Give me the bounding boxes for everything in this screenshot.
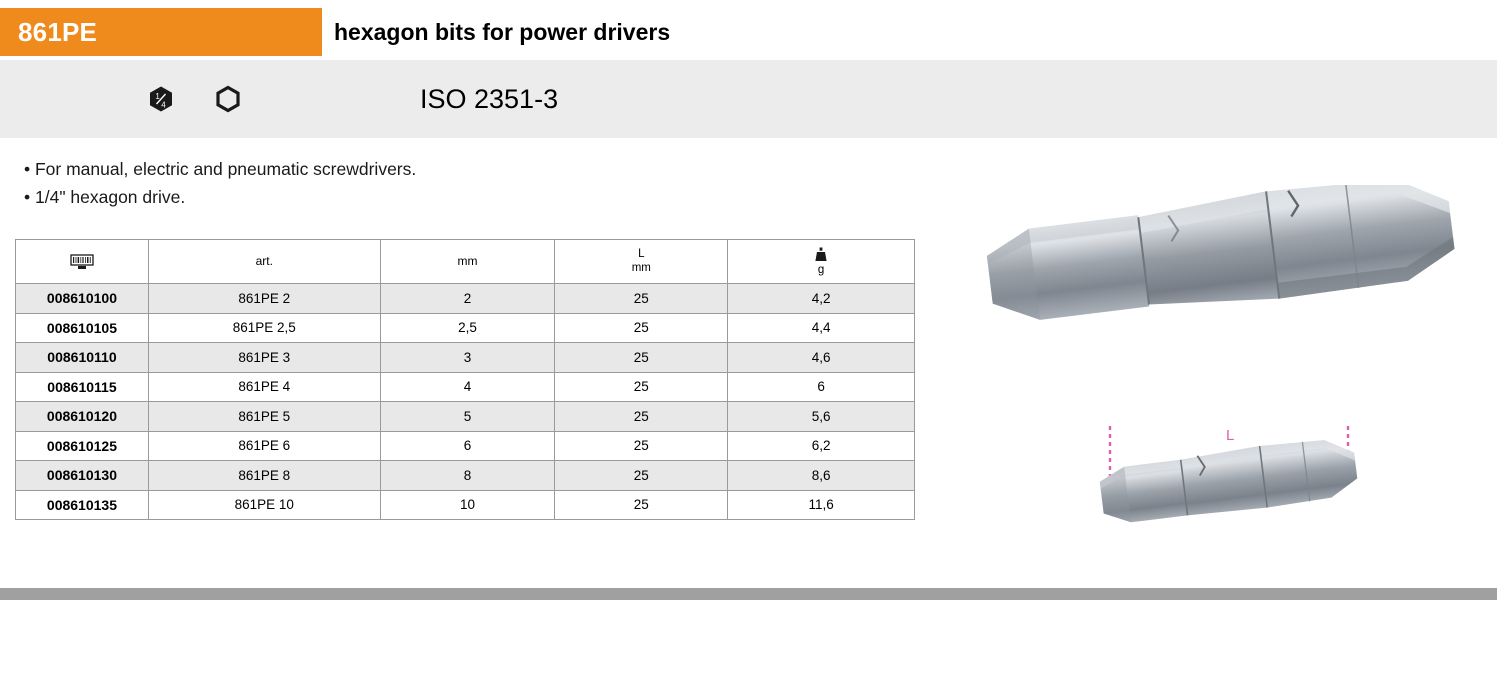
cell-code: 008610130 bbox=[16, 461, 149, 491]
cell-mm: 5 bbox=[380, 402, 555, 432]
header-weight-unit: g bbox=[728, 264, 914, 277]
cell-code: 008610110 bbox=[16, 343, 149, 373]
cell-art: 861PE 6 bbox=[148, 431, 380, 461]
cell-mm: 10 bbox=[380, 490, 555, 520]
page-title: hexagon bits for power drivers bbox=[334, 19, 670, 46]
hexagon-bit-photo bbox=[975, 185, 1480, 350]
cell-code: 008610100 bbox=[16, 284, 149, 314]
cell-mm: 4 bbox=[380, 372, 555, 402]
cell-weight: 5,6 bbox=[728, 402, 915, 432]
product-code-box: 861PE bbox=[0, 8, 322, 56]
standard-bar: 1 4 ISO 2351-3 bbox=[0, 60, 1497, 138]
cell-length: 25 bbox=[555, 372, 728, 402]
table-row: 008610130 861PE 8 8 25 8,6 bbox=[16, 461, 915, 491]
page-header: 861PE hexagon bits for power drivers bbox=[0, 8, 1497, 56]
feature-list: • For manual, electric and pneumatic scr… bbox=[24, 155, 416, 211]
svg-text:4: 4 bbox=[161, 101, 166, 110]
table-header-row: art. mm L mm g bbox=[16, 240, 915, 284]
cell-length: 25 bbox=[555, 313, 728, 343]
cell-weight: 4,2 bbox=[728, 284, 915, 314]
header-length: L mm bbox=[555, 240, 728, 284]
table-row: 008610120 861PE 5 5 25 5,6 bbox=[16, 402, 915, 432]
cell-mm: 2,5 bbox=[380, 313, 555, 343]
header-weight: g bbox=[728, 240, 915, 284]
cell-code: 008610125 bbox=[16, 431, 149, 461]
standard-name: ISO 2351-3 bbox=[420, 84, 558, 115]
cell-art: 861PE 5 bbox=[148, 402, 380, 432]
hexagon-socket-icon bbox=[214, 85, 242, 113]
table-row: 008610125 861PE 6 6 25 6,2 bbox=[16, 431, 915, 461]
product-code: 861PE bbox=[18, 17, 97, 48]
cell-code: 008610135 bbox=[16, 490, 149, 520]
header-art: art. bbox=[148, 240, 380, 284]
product-title-box: hexagon bits for power drivers bbox=[322, 8, 1497, 56]
barcode-icon bbox=[16, 253, 148, 271]
cell-code: 008610105 bbox=[16, 313, 149, 343]
weight-icon bbox=[728, 246, 914, 264]
cell-mm: 2 bbox=[380, 284, 555, 314]
table-row: 008610105 861PE 2,5 2,5 25 4,4 bbox=[16, 313, 915, 343]
cell-weight: 4,6 bbox=[728, 343, 915, 373]
header-length-unit: mm bbox=[555, 262, 727, 275]
cell-mm: 3 bbox=[380, 343, 555, 373]
table-row: 008610135 861PE 10 10 25 11,6 bbox=[16, 490, 915, 520]
cell-mm: 6 bbox=[380, 431, 555, 461]
cell-art: 861PE 2,5 bbox=[148, 313, 380, 343]
header-art-label: art. bbox=[256, 254, 273, 268]
cell-length: 25 bbox=[555, 343, 728, 373]
cell-weight: 4,4 bbox=[728, 313, 915, 343]
footer-divider bbox=[0, 588, 1497, 600]
header-mm-label: mm bbox=[458, 254, 478, 268]
specification-table: art. mm L mm g 008610100 bbox=[15, 239, 915, 520]
cell-code: 008610115 bbox=[16, 372, 149, 402]
cell-art: 861PE 10 bbox=[148, 490, 380, 520]
hexagon-bit-dimension-drawing: L bbox=[1090, 420, 1380, 545]
table-row: 008610115 861PE 4 4 25 6 bbox=[16, 372, 915, 402]
cell-mm: 8 bbox=[380, 461, 555, 491]
feature-item: • 1/4" hexagon drive. bbox=[24, 183, 416, 211]
cell-length: 25 bbox=[555, 284, 728, 314]
cell-art: 861PE 8 bbox=[148, 461, 380, 491]
cell-code: 008610120 bbox=[16, 402, 149, 432]
table-row: 008610110 861PE 3 3 25 4,6 bbox=[16, 343, 915, 373]
cell-length: 25 bbox=[555, 490, 728, 520]
cell-weight: 6,2 bbox=[728, 431, 915, 461]
svg-text:1: 1 bbox=[155, 92, 160, 101]
cell-weight: 11,6 bbox=[728, 490, 915, 520]
cell-art: 861PE 2 bbox=[148, 284, 380, 314]
cell-length: 25 bbox=[555, 431, 728, 461]
table-row: 008610100 861PE 2 2 25 4,2 bbox=[16, 284, 915, 314]
header-length-symbol: L bbox=[555, 248, 727, 261]
header-mm: mm bbox=[380, 240, 555, 284]
hexagon-quarter-inch-icon: 1 4 bbox=[148, 85, 174, 113]
cell-weight: 6 bbox=[728, 372, 915, 402]
dimension-label: L bbox=[1226, 427, 1234, 444]
cell-weight: 8,6 bbox=[728, 461, 915, 491]
cell-length: 25 bbox=[555, 402, 728, 432]
footer-spacer bbox=[0, 600, 1497, 604]
cell-length: 25 bbox=[555, 461, 728, 491]
cell-art: 861PE 3 bbox=[148, 343, 380, 373]
feature-item: • For manual, electric and pneumatic scr… bbox=[24, 155, 416, 183]
header-code bbox=[16, 240, 149, 284]
table-body: 008610100 861PE 2 2 25 4,2 008610105 861… bbox=[16, 284, 915, 520]
cell-art: 861PE 4 bbox=[148, 372, 380, 402]
